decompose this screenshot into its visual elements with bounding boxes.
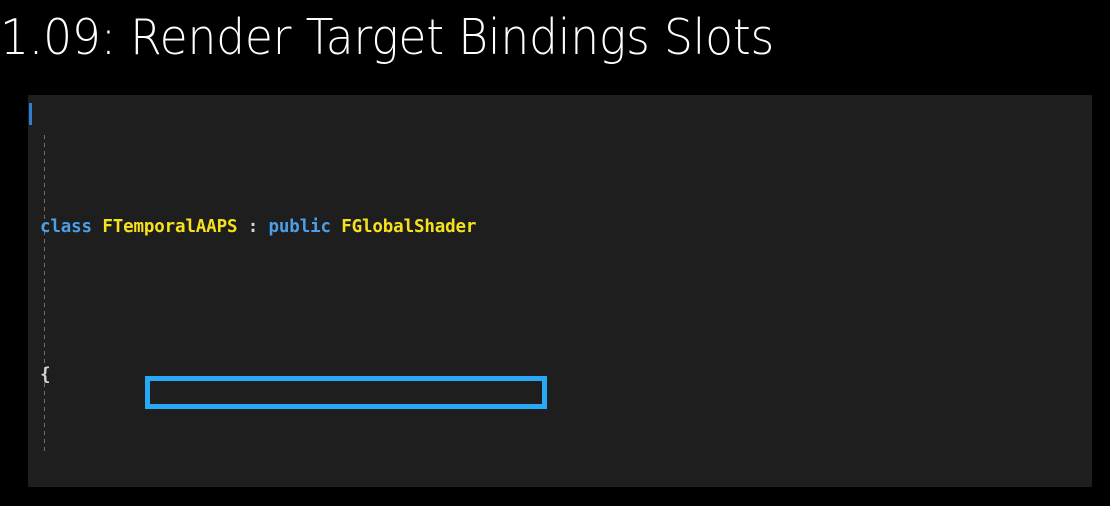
page-title: 1.09: Render Target Bindings Slots (0, 2, 1023, 74)
code-line-2: { (28, 361, 1092, 391)
code-listing: class FTemporalAAPS : public FGlobalShad… (28, 95, 1092, 487)
token-type-ftemporalaaps: FTemporalAAPS (102, 217, 237, 237)
token-colon: : (237, 217, 268, 237)
code-editor-panel: class FTemporalAAPS : public FGlobalShad… (28, 95, 1092, 487)
code-line-1: class FTemporalAAPS : public FGlobalShad… (28, 213, 1092, 243)
token-type-fglobalshader: FGlobalShader (341, 217, 476, 237)
presentation-slide: 1.09: Render Target Bindings Slots class… (0, 0, 1110, 506)
token-space (331, 217, 341, 237)
token-space (92, 217, 102, 237)
token-keyword-class: class (40, 217, 92, 237)
token-keyword-public: public (269, 217, 331, 237)
token-open-brace: { (40, 365, 50, 385)
